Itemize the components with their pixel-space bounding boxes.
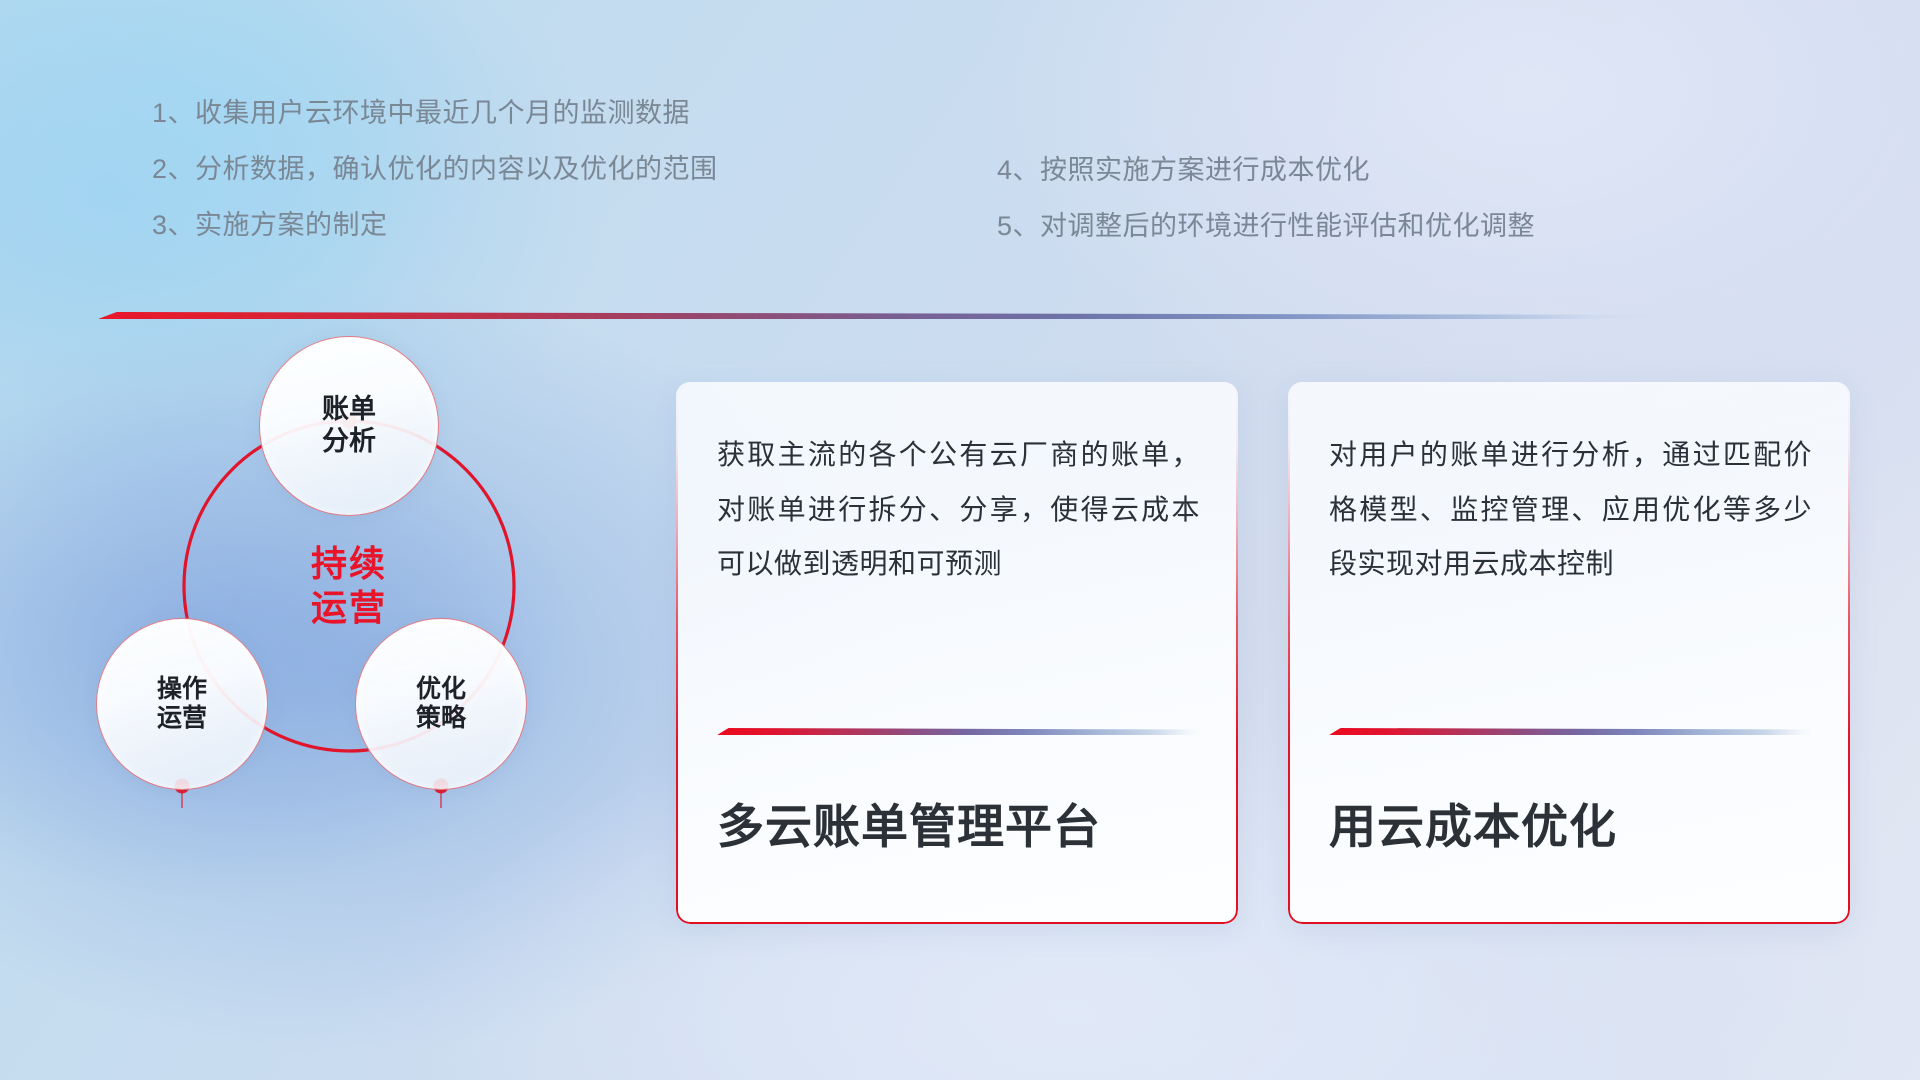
card-divider-rule	[717, 728, 1199, 735]
steps-list-right: 4、按照实施方案进行成本优化 5、对调整后的环境进行性能评估和优化调整	[997, 157, 1535, 240]
card-title: 多云账单管理平台	[717, 788, 1101, 857]
venn-bubble-right-line2: 策略	[416, 704, 466, 734]
section-divider-rule	[98, 312, 1658, 319]
venn-center-line1: 持续	[311, 542, 387, 586]
card-divider-rule	[1329, 728, 1811, 735]
venn-center-line2: 运营	[311, 586, 387, 630]
step-item-5: 5、对调整后的环境进行性能评估和优化调整	[997, 213, 1535, 240]
feature-card-cost-optimization[interactable]: 对用户的账单进行分析，通过匹配价格模型、监控管理、应用优化等多少段实现对用云成本…	[1288, 382, 1850, 924]
feature-card-multicloud-billing[interactable]: 获取主流的各个公有云厂商的账单，对账单进行拆分、分享，使得云成本可以做到透明和可…	[676, 382, 1238, 924]
card-body-text: 获取主流的各个公有云厂商的账单，对账单进行拆分、分享，使得云成本可以做到透明和可…	[717, 428, 1200, 592]
step-item-2: 2、分析数据，确认优化的内容以及优化的范围	[152, 156, 718, 183]
venn-bubble-top-line2: 分析	[322, 426, 376, 458]
step-item-4: 4、按照实施方案进行成本优化	[997, 157, 1535, 184]
step-item-3: 3、实施方案的制定	[152, 212, 718, 239]
venn-bubble-optimization-strategy[interactable]: 优化 策略	[355, 618, 527, 790]
step-item-1: 1、收集用户云环境中最近几个月的监测数据	[152, 100, 718, 127]
venn-bubble-right-line1: 优化	[416, 675, 466, 705]
venn-diagram: 持续 运营 账单 分析 操作 运营 优化 策略	[96, 348, 656, 968]
steps-list-left: 1、收集用户云环境中最近几个月的监测数据 2、分析数据，确认优化的内容以及优化的…	[152, 100, 718, 239]
venn-bubble-billing-analysis[interactable]: 账单 分析	[259, 336, 439, 516]
venn-bubble-left-line2: 运营	[157, 704, 207, 734]
card-body-text: 对用户的账单进行分析，通过匹配价格模型、监控管理、应用优化等多少段实现对用云成本…	[1329, 428, 1812, 592]
venn-bubble-left-line1: 操作	[157, 675, 207, 705]
venn-bubble-top-line1: 账单	[322, 394, 376, 426]
card-title: 用云成本优化	[1329, 788, 1617, 857]
slide-canvas: 1、收集用户云环境中最近几个月的监测数据 2、分析数据，确认优化的内容以及优化的…	[0, 0, 1920, 1080]
venn-bubble-operations[interactable]: 操作 运营	[96, 618, 268, 790]
